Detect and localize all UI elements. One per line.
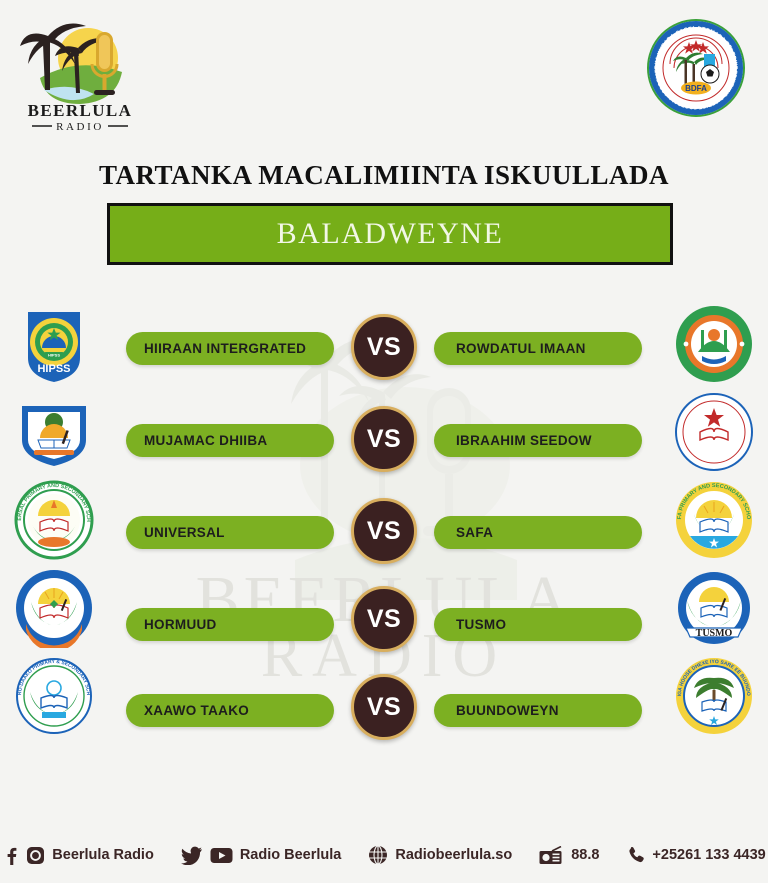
beerlula-radio-logo: BEERLULA RADIO — [18, 16, 143, 134]
vs-label: VS — [367, 605, 401, 634]
buundoweyn-crest: DUGSIGA HOOSE DHEXE IYO SARE EE BUUNDOWE… — [674, 656, 754, 736]
away-team-pill[interactable]: TUSMO — [434, 608, 642, 641]
city-banner: BALADWEYNE — [107, 203, 673, 265]
footer-item-social[interactable]: Beerlula Radio — [2, 846, 154, 865]
away-team-pill[interactable]: SAFA — [434, 516, 642, 549]
match-row: HABRO-DAAKO PRIMARY & SECONDARY SCHOOL X… — [0, 652, 768, 740]
away-team-name: SAFA — [456, 525, 493, 540]
away-team-pill[interactable]: ROWDATUL IMAAN — [434, 332, 642, 365]
home-team-pill[interactable]: MUJAMAC DHIIBA — [126, 424, 334, 457]
vs-label: VS — [367, 517, 401, 546]
match-row: UNIVERSAL PRIMARY AND SECONDARY SCHOOL U… — [0, 476, 768, 564]
vs-label: VS — [367, 425, 401, 454]
away-team-pill[interactable]: IBRAAHIM SEEDOW — [434, 424, 642, 457]
footer-contact-bar: Beerlula Radio Radio Beerlula — [0, 845, 768, 865]
xaawo-taako-crest: HABRO-DAAKO PRIMARY & SECONDARY SCHOOL — [14, 656, 94, 736]
home-team-pill[interactable]: UNIVERSAL — [126, 516, 334, 549]
footer-label-website: Radiobeerlula.so — [395, 847, 512, 863]
home-team-name: HIIRAAN INTERGRATED — [144, 341, 306, 356]
home-team-pill[interactable]: HIIRAAN INTERGRATED — [126, 332, 334, 365]
home-team-pill[interactable]: XAAWO TAAKO — [126, 694, 334, 727]
vs-badge: VS — [351, 674, 417, 740]
hormuud-crest: HORMUUD PRIMARY AND SECONDARY SCHOOL — [14, 568, 94, 648]
footer-item-website[interactable]: Radiobeerlula.so — [368, 845, 512, 865]
facebook-icon[interactable] — [2, 846, 19, 865]
ibraahim-seedow-crest — [674, 392, 754, 472]
bdfa-abbreviation: BDFA — [685, 84, 707, 93]
instagram-icon[interactable] — [26, 846, 45, 865]
footer-item-media[interactable]: Radio Beerlula — [181, 846, 342, 865]
home-team-name: UNIVERSAL — [144, 525, 225, 540]
footer-item-phone[interactable]: +25261 133 4439 — [626, 846, 765, 865]
match-row: HORMUUD PRIMARY AND SECONDARY SCHOOL HOR… — [0, 564, 768, 652]
home-team-pill[interactable]: HORMUUD — [126, 608, 334, 641]
hipss-crest: HIPSS HIPSS — [14, 304, 94, 384]
vs-label: VS — [367, 693, 401, 722]
home-team-name: HORMUUD — [144, 617, 217, 632]
bdfa-logo: BDFA URURKA KUBADA CAGTA DEGMADA BELEDWE… — [646, 18, 746, 118]
svg-text:TUSMO: TUSMO — [696, 628, 733, 639]
match-row: MUJAMAC DHIIBA VS IBRAAHIM SEEDOW — [0, 388, 768, 476]
vs-badge: VS — [351, 406, 417, 472]
svg-text:BEERLULA: BEERLULA — [28, 101, 133, 120]
vs-badge: VS — [351, 586, 417, 652]
vs-badge: VS — [351, 498, 417, 564]
footer-label-media: Radio Beerlula — [240, 847, 342, 863]
vs-badge: VS — [351, 314, 417, 380]
away-team-pill[interactable]: BUUNDOWEYN — [434, 694, 642, 727]
poster: BEERLULA RADIO BEERLULA RADIO — [0, 0, 768, 883]
away-team-name: IBRAAHIM SEEDOW — [456, 433, 592, 448]
home-team-name: XAAWO TAAKO — [144, 703, 249, 718]
tusmo-crest: TUSMO TUSMO PRIMARY SCHOOL — [674, 568, 754, 648]
safa-crest: SAFA PRIMARY AND SECONDARY SCHOOL — [674, 480, 754, 560]
universal-crest: UNIVERSAL PRIMARY AND SECONDARY SCHOOL — [14, 480, 94, 560]
globe-icon[interactable] — [368, 845, 388, 865]
footer-item-frequency: 88.8 — [539, 846, 599, 865]
vs-label: VS — [367, 333, 401, 362]
away-team-name: TUSMO — [456, 617, 506, 632]
twitter-icon[interactable] — [181, 846, 203, 865]
svg-text:HIPSS: HIPSS — [48, 353, 60, 358]
mujamac-dhiiba-crest — [14, 392, 94, 472]
svg-text:RADIO: RADIO — [56, 121, 104, 133]
radio-icon — [539, 846, 564, 865]
home-team-name: MUJAMAC DHIIBA — [144, 433, 267, 448]
footer-label-phone: +25261 133 4439 — [652, 847, 765, 863]
youtube-icon[interactable] — [210, 847, 233, 864]
footer-label-frequency: 88.8 — [571, 847, 599, 863]
city-banner-label: BALADWEYNE — [277, 217, 504, 251]
fixture-list: HIPSS HIPSS HIIRAAN INTERGRATED VS ROWDA… — [0, 300, 768, 740]
footer-label-social: Beerlula Radio — [52, 847, 154, 863]
rowdatul-imaan-crest — [674, 304, 754, 384]
match-row: HIPSS HIPSS HIIRAAN INTERGRATED VS ROWDA… — [0, 300, 768, 388]
away-team-name: BUUNDOWEYN — [456, 703, 559, 718]
svg-text:HIPSS: HIPSS — [37, 363, 70, 375]
phone-icon[interactable] — [626, 846, 645, 865]
page-title: TARTANKA MACALIMIINTA ISKUULLADA — [0, 160, 768, 191]
away-team-name: ROWDATUL IMAAN — [456, 341, 586, 356]
